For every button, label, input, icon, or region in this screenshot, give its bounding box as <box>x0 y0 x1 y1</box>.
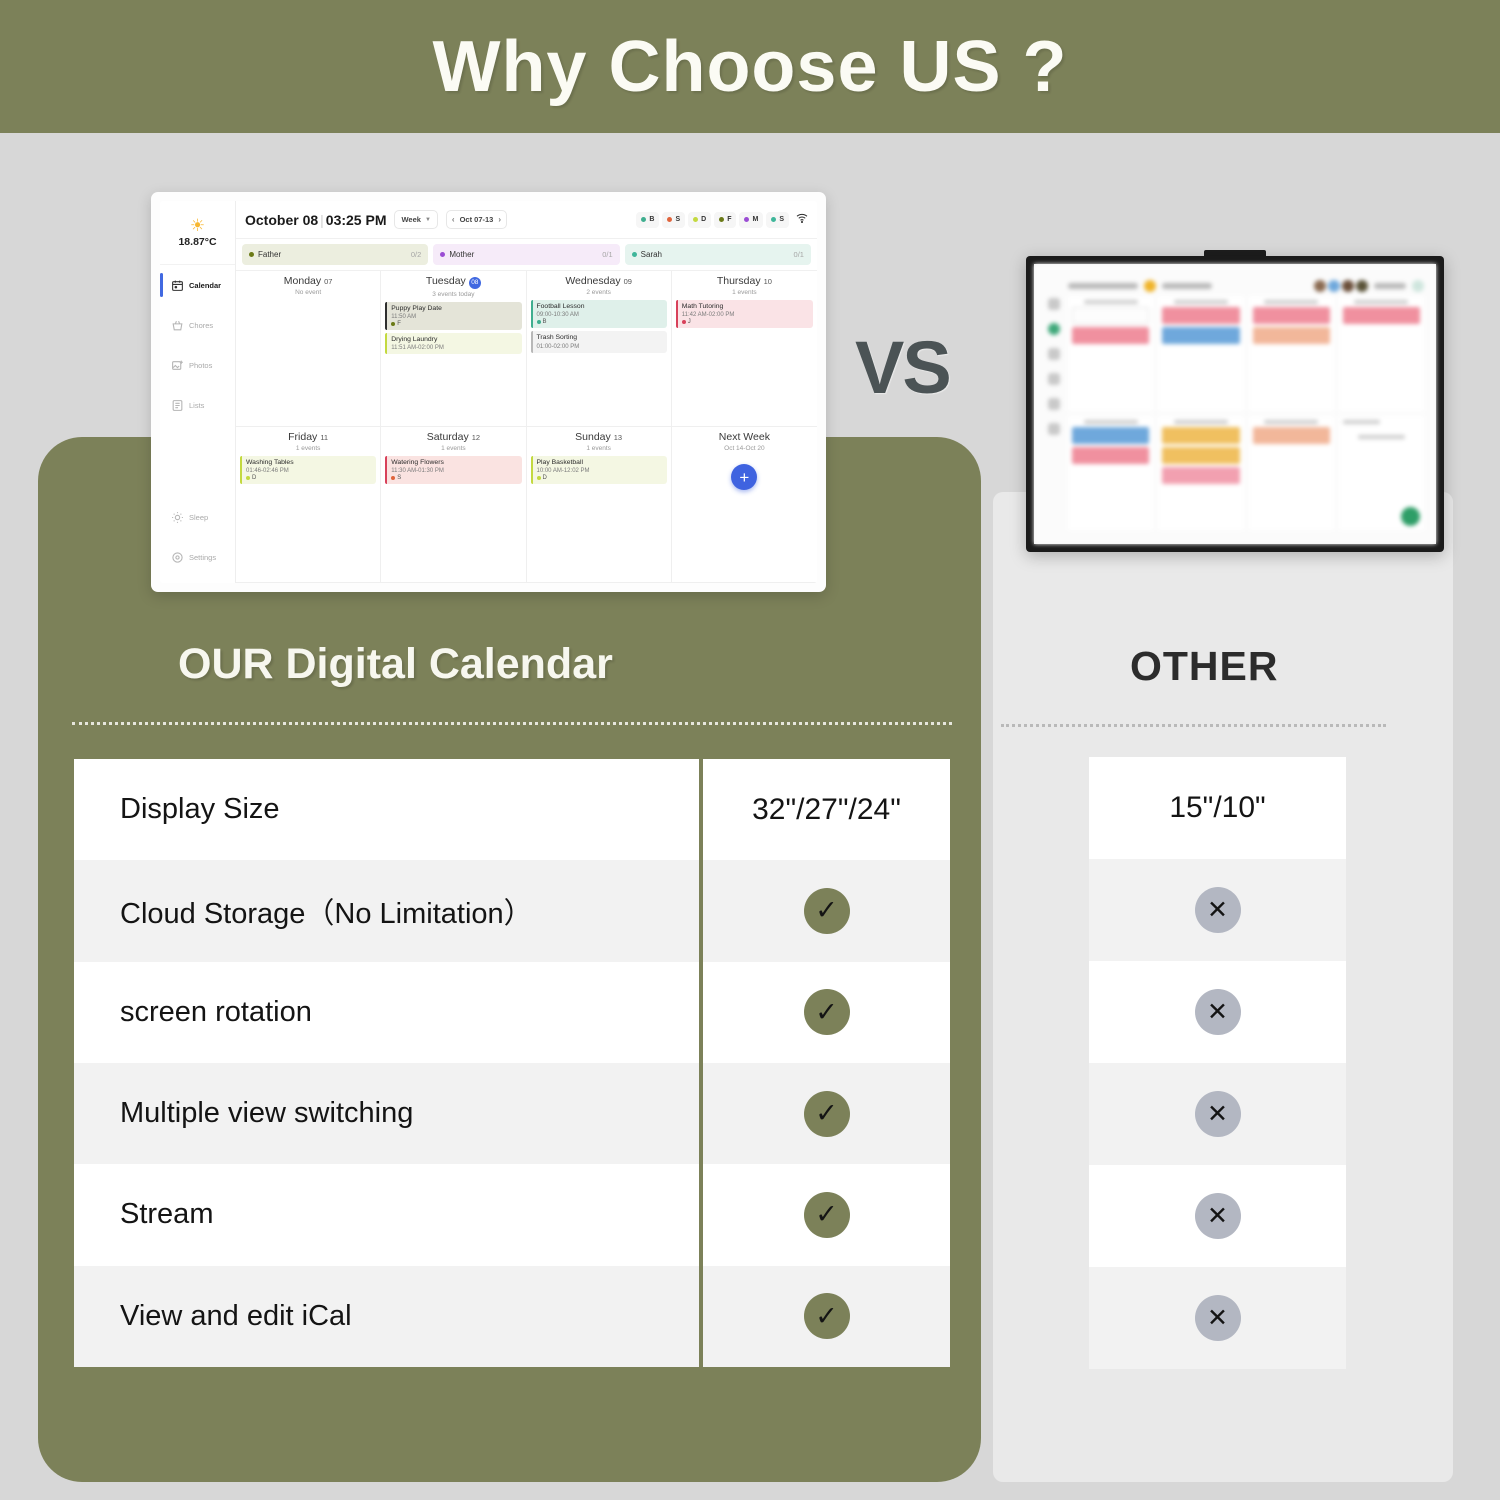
competitor-add-button <box>1401 507 1420 526</box>
owner-color-dot <box>391 322 395 326</box>
event-card[interactable]: Drying Laundry 11:51 AM-02:00 PM <box>385 333 521 354</box>
member-tag[interactable]: S <box>766 212 789 228</box>
week-navigator[interactable]: ‹ Oct 07-13 › <box>446 210 507 229</box>
event-title: Play Basketball <box>537 459 663 467</box>
event-title: Trash Sorting <box>537 334 663 342</box>
day-event-count: 1 events <box>385 445 521 452</box>
day-number: 09 <box>624 277 632 286</box>
table-row: ✕ <box>1089 1063 1346 1165</box>
table-row: Multiple view switching <box>74 1063 699 1164</box>
sidebar-item-sleep[interactable]: Sleep <box>160 497 235 537</box>
day-name: Monday <box>284 275 321 287</box>
competitor-event <box>1343 307 1420 324</box>
member-initial: F <box>727 216 731 223</box>
event-title: Drying Laundry <box>391 336 517 344</box>
list-icon <box>170 398 184 412</box>
member-color-dot <box>719 217 724 222</box>
event-time: 11:50 AM <box>391 314 517 320</box>
day-header-placeholder <box>1264 300 1318 304</box>
competitor-event <box>1253 427 1330 444</box>
next-week-range-placeholder <box>1358 435 1404 439</box>
day-number: 11 <box>320 433 328 442</box>
table-row: Cloud Storage（No Limitation） <box>74 860 699 961</box>
sidebar-item-lists[interactable]: Lists <box>160 385 235 425</box>
next-week-range: Oct 14-Oct 20 <box>676 445 813 452</box>
sidebar-label: Photos <box>189 361 212 370</box>
event-card[interactable]: Watering Flowers 11:30 AM-01:30 PM S <box>385 456 521 484</box>
event-time: 11:51 AM-02:00 PM <box>391 345 517 351</box>
feature-label: Stream <box>74 1198 213 1231</box>
table-row: screen rotation <box>74 962 699 1063</box>
sidebar-icon-placeholder-active <box>1048 323 1060 335</box>
table-row: ✕ <box>1089 1267 1346 1369</box>
member-task-count: 0/1 <box>794 250 804 259</box>
member-initial: S <box>675 216 680 223</box>
day-name: Tuesday <box>426 275 466 287</box>
other-column-divider <box>1001 724 1386 727</box>
member-summary-card[interactable]: Sarah 0/1 <box>625 244 811 265</box>
table-row: ✓ <box>703 962 950 1063</box>
event-card[interactable]: Washing Tables 01:46-02:46 PM D <box>240 456 376 484</box>
table-row: Stream <box>74 1164 699 1265</box>
member-tag[interactable]: F <box>714 212 736 228</box>
competitor-event <box>1162 467 1239 484</box>
owner-color-dot <box>391 476 395 480</box>
event-title: Washing Tables <box>246 459 372 467</box>
day-header: Wednesday 09 <box>531 275 667 287</box>
table-row: ✓ <box>703 1063 950 1164</box>
event-owner: J <box>682 319 809 325</box>
wifi-icon <box>796 212 808 227</box>
event-card[interactable]: Play Basketball 10:00 AM-12:02 PM D <box>531 456 667 484</box>
owner-initial: J <box>688 319 691 325</box>
check-icon: ✓ <box>804 1192 850 1238</box>
competitor-calendar-blurred <box>1034 264 1436 544</box>
event-card[interactable]: Puppy Play Date 11:50 AM F <box>385 302 521 330</box>
feature-label-column: Display Size Cloud Storage（No Limitation… <box>74 759 699 1367</box>
competitor-day-cell <box>1068 296 1153 411</box>
competitor-sidebar <box>1040 276 1068 530</box>
day-number: 13 <box>614 433 622 442</box>
feature-label: screen rotation <box>74 996 312 1029</box>
competitor-event <box>1162 427 1239 444</box>
close-icon: ✕ <box>1195 887 1241 933</box>
day-name: Wednesday <box>565 275 620 287</box>
competitor-day-cell-next-week <box>1339 416 1424 531</box>
competitor-event <box>1072 307 1149 324</box>
table-row: View and edit iCal <box>74 1266 699 1367</box>
our-value-column: 32"/27"/24" ✓ ✓ ✓ ✓ ✓ <box>699 759 950 1367</box>
close-icon: ✕ <box>1195 1193 1241 1239</box>
member-name: Mother <box>449 250 474 259</box>
view-select[interactable]: Week ▼ <box>394 210 437 229</box>
avatar <box>1342 280 1354 292</box>
next-week-icon[interactable]: › <box>498 215 501 224</box>
day-number-today-badge: 08 <box>469 277 481 289</box>
weather-temperature: 18.87°C <box>178 236 216 248</box>
owner-color-dot <box>246 476 250 480</box>
member-color-dot <box>667 217 672 222</box>
owner-color-dot <box>537 476 541 480</box>
table-row: Display Size <box>74 759 699 860</box>
gear-icon <box>170 550 184 564</box>
sidebar-icon-placeholder <box>1048 373 1060 385</box>
member-color-dot <box>693 217 698 222</box>
member-tag[interactable]: D <box>688 212 711 228</box>
day-number: 12 <box>472 433 480 442</box>
event-owner: D <box>537 475 663 481</box>
other-device-monitor <box>1026 256 1444 552</box>
toolbar-badge-placeholder <box>1144 280 1156 292</box>
member-initial: M <box>752 216 758 223</box>
member-summary-card[interactable]: Mother 0/1 <box>433 244 619 265</box>
monitor-screen <box>1034 264 1436 544</box>
toolbar-icon-placeholder <box>1412 280 1424 292</box>
member-summary-card[interactable]: Father 0/2 <box>242 244 428 265</box>
event-owner: F <box>391 321 517 327</box>
event-time: 01:00-02:00 PM <box>537 344 663 350</box>
member-name: Sarah <box>641 250 662 259</box>
day-header: Monday 07 <box>240 275 376 287</box>
next-week-label: Next Week <box>719 431 770 443</box>
competitor-day-cell <box>1158 416 1243 531</box>
event-owner: S <box>391 475 517 481</box>
competitor-event <box>1253 307 1330 324</box>
sidebar-icon-placeholder <box>1048 348 1060 360</box>
sidebar-label: Calendar <box>189 281 221 290</box>
owner-color-dot <box>537 320 541 324</box>
sidebar-icon-placeholder <box>1048 298 1060 310</box>
day-number: 10 <box>764 277 772 286</box>
check-icon: ✓ <box>804 989 850 1035</box>
sidebar-icon-placeholder <box>1048 423 1060 435</box>
competitor-event <box>1072 447 1149 464</box>
weather-widget: ☀ 18.87°C <box>160 201 235 265</box>
our-comparison-table: Display Size Cloud Storage（No Limitation… <box>72 757 952 1369</box>
other-comparison-table: 15"/10" ✕ ✕ ✕ ✕ ✕ <box>1089 757 1346 1369</box>
competitor-main <box>1068 276 1424 530</box>
day-event-count: 2 events <box>531 289 667 296</box>
day-header: Thursday 10 <box>676 275 813 287</box>
sidebar-label: Chores <box>189 321 213 330</box>
day-name: Friday <box>288 431 317 443</box>
member-color-dot <box>440 252 445 257</box>
day-header: Next Week <box>676 431 813 443</box>
competitor-day-cell <box>1339 296 1424 411</box>
owner-color-dot <box>682 320 686 324</box>
table-row: ✕ <box>1089 1165 1346 1267</box>
feature-label: Display Size <box>74 793 280 826</box>
member-tag[interactable]: M <box>739 212 763 228</box>
member-task-count: 0/1 <box>602 250 612 259</box>
table-row: ✓ <box>703 1164 950 1265</box>
check-icon: ✓ <box>804 1293 850 1339</box>
sun-brightness-icon <box>170 510 184 524</box>
competitor-toolbar <box>1068 276 1424 296</box>
event-card[interactable]: Trash Sorting 01:00-02:00 PM <box>531 331 667 352</box>
app-sidebar: ☀ 18.87°C Calendar Chores <box>160 201 236 583</box>
owner-initial: B <box>543 319 547 325</box>
day-header: Tuesday 08 <box>385 275 521 289</box>
competitor-event <box>1162 307 1239 324</box>
avatar <box>1328 280 1340 292</box>
member-color-dot <box>632 252 637 257</box>
owner-initial: F <box>397 321 401 327</box>
time-label: 03:25 PM <box>326 212 387 228</box>
member-tag[interactable]: B <box>636 212 659 228</box>
event-time: 01:46-02:46 PM <box>246 468 372 474</box>
chevron-down-icon: ▼ <box>425 217 431 223</box>
member-color-dot <box>771 217 776 222</box>
other-value-text: 15"/10" <box>1169 791 1265 825</box>
day-header: Sunday 13 <box>531 431 667 443</box>
sidebar-spacer <box>160 425 235 497</box>
table-row: ✓ <box>703 860 950 961</box>
table-row: ✓ <box>703 1266 950 1367</box>
page-title: Why Choose US ? <box>432 26 1067 108</box>
event-time: 09:00-10:30 AM <box>537 312 663 318</box>
avatar <box>1356 280 1368 292</box>
close-icon: ✕ <box>1195 1091 1241 1137</box>
event-title: Puppy Play Date <box>391 305 517 313</box>
event-time: 11:42 AM-02:00 PM <box>682 312 809 318</box>
member-initial: B <box>649 216 654 223</box>
other-column-title: OTHER <box>1130 643 1279 690</box>
day-cell[interactable]: Sunday 13 1 events Play Basketball 10:00… <box>527 427 672 583</box>
view-select-value: Week <box>401 215 420 224</box>
our-column-title: OUR Digital Calendar <box>178 640 613 689</box>
day-header: Saturday 12 <box>385 431 521 443</box>
sun-icon: ☀ <box>190 217 205 234</box>
day-name: Sunday <box>575 431 611 443</box>
sidebar-item-photos[interactable]: Photos <box>160 345 235 385</box>
day-cell[interactable]: Saturday 12 1 events Watering Flowers 11… <box>381 427 526 583</box>
event-title: Watering Flowers <box>391 459 517 467</box>
week-range-label: Oct 07-13 <box>460 215 494 224</box>
our-device-tablet: ☀ 18.87°C Calendar Chores <box>151 192 826 592</box>
day-header-placeholder <box>1174 300 1228 304</box>
vs-label: VS <box>855 325 950 410</box>
header-banner: Why Choose US ? <box>0 0 1500 133</box>
next-week-placeholder <box>1343 420 1380 424</box>
sidebar-item-chores[interactable]: Chores <box>160 305 235 345</box>
member-color-dot <box>249 252 254 257</box>
event-owner: B <box>537 319 663 325</box>
event-time: 11:30 AM-01:30 PM <box>391 468 517 474</box>
day-header-placeholder <box>1354 300 1408 304</box>
avatar <box>1314 280 1326 292</box>
competitor-day-cell <box>1249 416 1334 531</box>
competitor-event <box>1072 427 1149 444</box>
our-value-text: 32"/27"/24" <box>752 793 901 827</box>
competitor-event <box>1162 447 1239 464</box>
event-owner: D <box>246 475 372 481</box>
week-grid: Monday 07 No event Tuesday 08 3 events t… <box>236 270 817 583</box>
toolbar-text-placeholder <box>1068 283 1138 289</box>
day-event-count: 1 events <box>676 289 813 296</box>
member-name: Father <box>258 250 281 259</box>
sidebar-label: Sleep <box>189 513 208 522</box>
close-icon: ✕ <box>1195 989 1241 1035</box>
day-event-count: No event <box>240 289 376 296</box>
sidebar-item-calendar[interactable]: Calendar <box>160 265 235 305</box>
member-task-count: 0/2 <box>411 250 421 259</box>
sidebar-label: Lists <box>189 401 204 410</box>
calendar-main: October 08|03:25 PM Week ▼ ‹ Oct 07-13 ›… <box>236 201 817 583</box>
sidebar-icon-placeholder <box>1048 398 1060 410</box>
day-header-placeholder <box>1264 420 1318 424</box>
close-icon: ✕ <box>1195 1295 1241 1341</box>
owner-initial: D <box>252 475 256 481</box>
date-label: October 08 <box>245 212 318 228</box>
feature-label: Multiple view switching <box>74 1097 413 1130</box>
competitor-day-cell <box>1068 416 1153 531</box>
prev-week-icon[interactable]: ‹ <box>452 215 455 224</box>
day-header-placeholder <box>1084 420 1138 424</box>
avatar-group <box>1314 280 1368 292</box>
add-event-button[interactable]: + <box>731 464 757 490</box>
day-event-count: 1 events <box>531 445 667 452</box>
toolbar-text-placeholder <box>1162 283 1212 289</box>
check-icon: ✓ <box>804 888 850 934</box>
feature-label: View and edit iCal <box>74 1300 352 1333</box>
owner-initial: D <box>543 475 547 481</box>
event-time: 10:00 AM-12:02 PM <box>537 468 663 474</box>
day-cell[interactable]: Wednesday 09 2 events Football Lesson 09… <box>527 271 672 427</box>
day-event-count: 1 events <box>240 445 376 452</box>
calendar-toolbar: October 08|03:25 PM Week ▼ ‹ Oct 07-13 ›… <box>236 201 817 239</box>
table-row: 15"/10" <box>1089 757 1346 859</box>
day-header-placeholder <box>1174 420 1228 424</box>
competitor-day-cell <box>1249 296 1334 411</box>
photo-icon <box>170 358 184 372</box>
competitor-event <box>1162 327 1239 344</box>
event-title: Football Lesson <box>537 303 663 311</box>
day-cell[interactable]: Thursday 10 1 events Math Tutoring 11:42… <box>672 271 817 427</box>
our-column-divider <box>72 722 952 725</box>
basket-icon <box>170 318 184 332</box>
competitor-event <box>1072 327 1149 344</box>
owner-initial: S <box>397 475 401 481</box>
day-header: Friday 11 <box>240 431 376 443</box>
member-initial: D <box>701 216 706 223</box>
calendar-icon <box>170 278 184 292</box>
member-color-dot <box>744 217 749 222</box>
day-cell[interactable]: Friday 11 1 events Washing Tables 01:46-… <box>236 427 381 583</box>
competitor-event <box>1253 327 1330 344</box>
day-cell[interactable]: Tuesday 08 3 events today Puppy Play Dat… <box>381 271 526 427</box>
sidebar-label: Settings <box>189 553 216 562</box>
competitor-day-cell <box>1158 296 1243 411</box>
member-filter-tags: B S D F M S <box>636 212 808 228</box>
day-header-placeholder <box>1084 300 1138 304</box>
member-initial: S <box>779 216 784 223</box>
tablet-screen: ☀ 18.87°C Calendar Chores <box>160 201 817 583</box>
event-card[interactable]: Math Tutoring 11:42 AM-02:00 PM J <box>676 300 813 328</box>
day-number: 07 <box>324 277 332 286</box>
table-row: 32"/27"/24" <box>703 759 950 860</box>
event-title: Math Tutoring <box>682 303 809 311</box>
current-date-time: October 08|03:25 PM <box>245 212 386 228</box>
day-name: Saturday <box>427 431 469 443</box>
table-row: ✕ <box>1089 961 1346 1063</box>
event-card[interactable]: Football Lesson 09:00-10:30 AM B <box>531 300 667 328</box>
member-tag[interactable]: S <box>662 212 685 228</box>
monitor-bezel <box>1026 256 1444 552</box>
day-name: Thursday <box>717 275 761 287</box>
check-icon: ✓ <box>804 1091 850 1137</box>
toolbar-text-placeholder <box>1374 283 1406 289</box>
member-chore-summary: Father 0/2 Mother 0/1 Sarah 0/1 <box>236 239 817 270</box>
day-cell[interactable]: Monday 07 No event <box>236 271 381 427</box>
day-event-count: 3 events today <box>385 291 521 298</box>
competitor-week-grid <box>1068 296 1424 530</box>
table-row: ✕ <box>1089 859 1346 961</box>
sidebar-item-settings[interactable]: Settings <box>160 537 235 577</box>
member-color-dot <box>641 217 646 222</box>
feature-label: Cloud Storage（No Limitation） <box>74 890 533 932</box>
day-cell-next-week[interactable]: Next Week Oct 14-Oct 20 + <box>672 427 817 583</box>
